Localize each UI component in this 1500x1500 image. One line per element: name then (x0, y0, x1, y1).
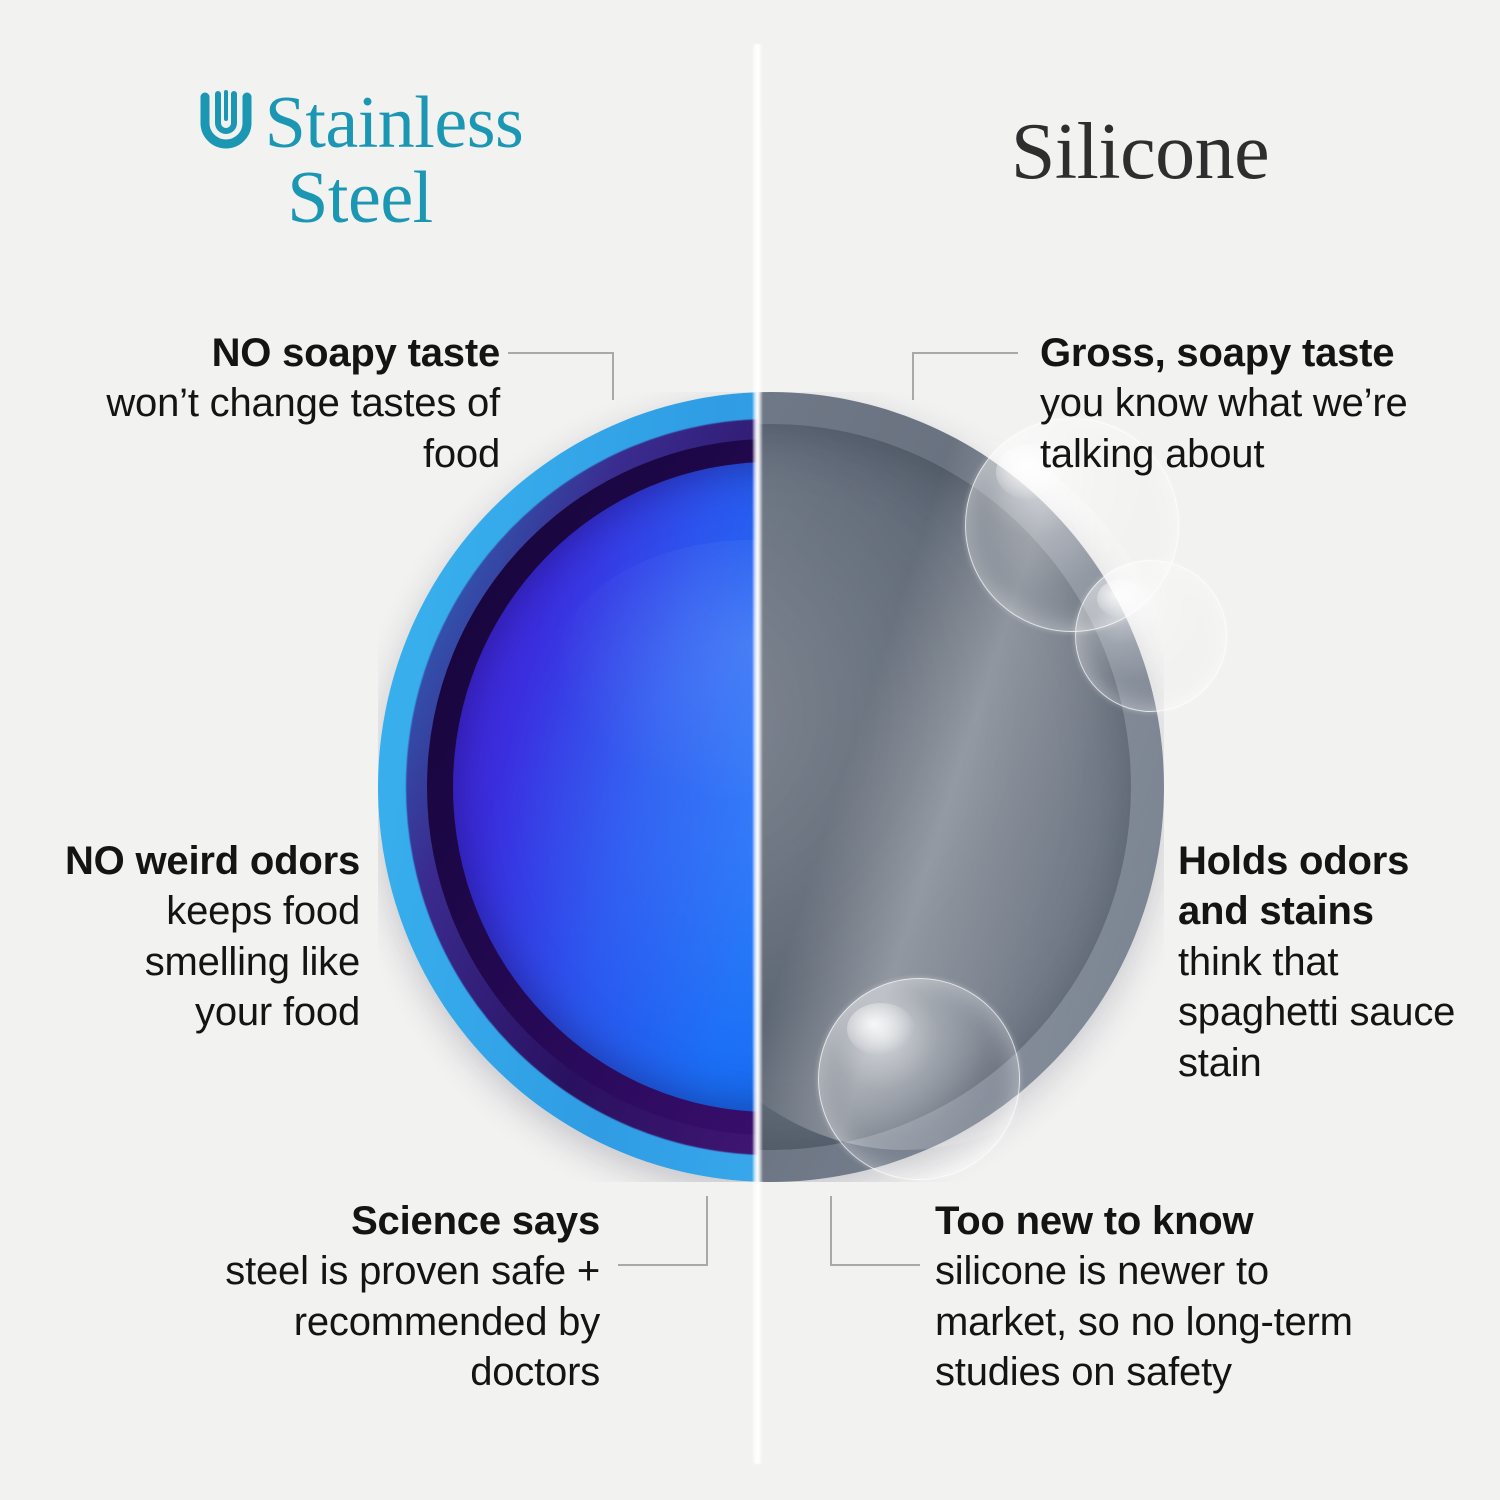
feature-head: NO weird odors (60, 836, 360, 886)
feature-too-new-to-know: Too new to know silicone is newer to mar… (935, 1196, 1405, 1398)
comparison-infographic: Stainless Steel Silicone (0, 0, 1500, 1500)
feature-body: you know what we’re talking about (1040, 378, 1460, 479)
connector-line-top-left (508, 352, 614, 400)
stainless-steel-title-line1: Stainless (265, 82, 524, 164)
feature-no-weird-odors: NO weird odors keeps food smelling like … (60, 836, 360, 1038)
feature-body: won’t change tastes of food (60, 378, 500, 479)
vertical-divider (752, 44, 763, 1464)
feature-holds-odors-and-stains: Holds odors and stains think that spaghe… (1178, 836, 1468, 1088)
feature-head: NO soapy taste (60, 328, 500, 378)
stainless-steel-title-line2: Steel (110, 161, 610, 236)
feature-head: Too new to know (935, 1196, 1405, 1246)
feature-science-says: Science says steel is proven safe + reco… (170, 1196, 600, 1398)
feature-body: keeps food smelling like your food (60, 886, 360, 1037)
feature-head: Science says (170, 1196, 600, 1246)
feature-body: steel is proven safe + recommended by do… (170, 1246, 600, 1397)
connector-line-top-right (912, 352, 1018, 400)
hand-logo-icon (197, 89, 255, 153)
stainless-steel-bowl-half (378, 392, 758, 1182)
feature-head: Holds odors and stains (1178, 836, 1468, 937)
connector-line-bottom-right (830, 1196, 920, 1266)
stainless-steel-title: Stainless Steel (110, 86, 610, 237)
feature-body: silicone is newer to market, so no long-… (935, 1246, 1405, 1397)
feature-no-soapy-taste: NO soapy taste won’t change tastes of fo… (60, 328, 500, 479)
soap-bubble-icon (1075, 560, 1227, 712)
connector-line-bottom-left (618, 1196, 708, 1266)
feature-body: think that spaghetti sauce stain (1178, 937, 1468, 1088)
silicone-title: Silicone (900, 112, 1380, 192)
feature-gross-soapy-taste: Gross, soapy taste you know what we’re t… (1040, 328, 1460, 479)
feature-head: Gross, soapy taste (1040, 328, 1460, 378)
soap-bubble-icon (818, 978, 1020, 1180)
steel-bowl-gloss (555, 540, 758, 800)
steel-bowl-rim (378, 392, 758, 1182)
